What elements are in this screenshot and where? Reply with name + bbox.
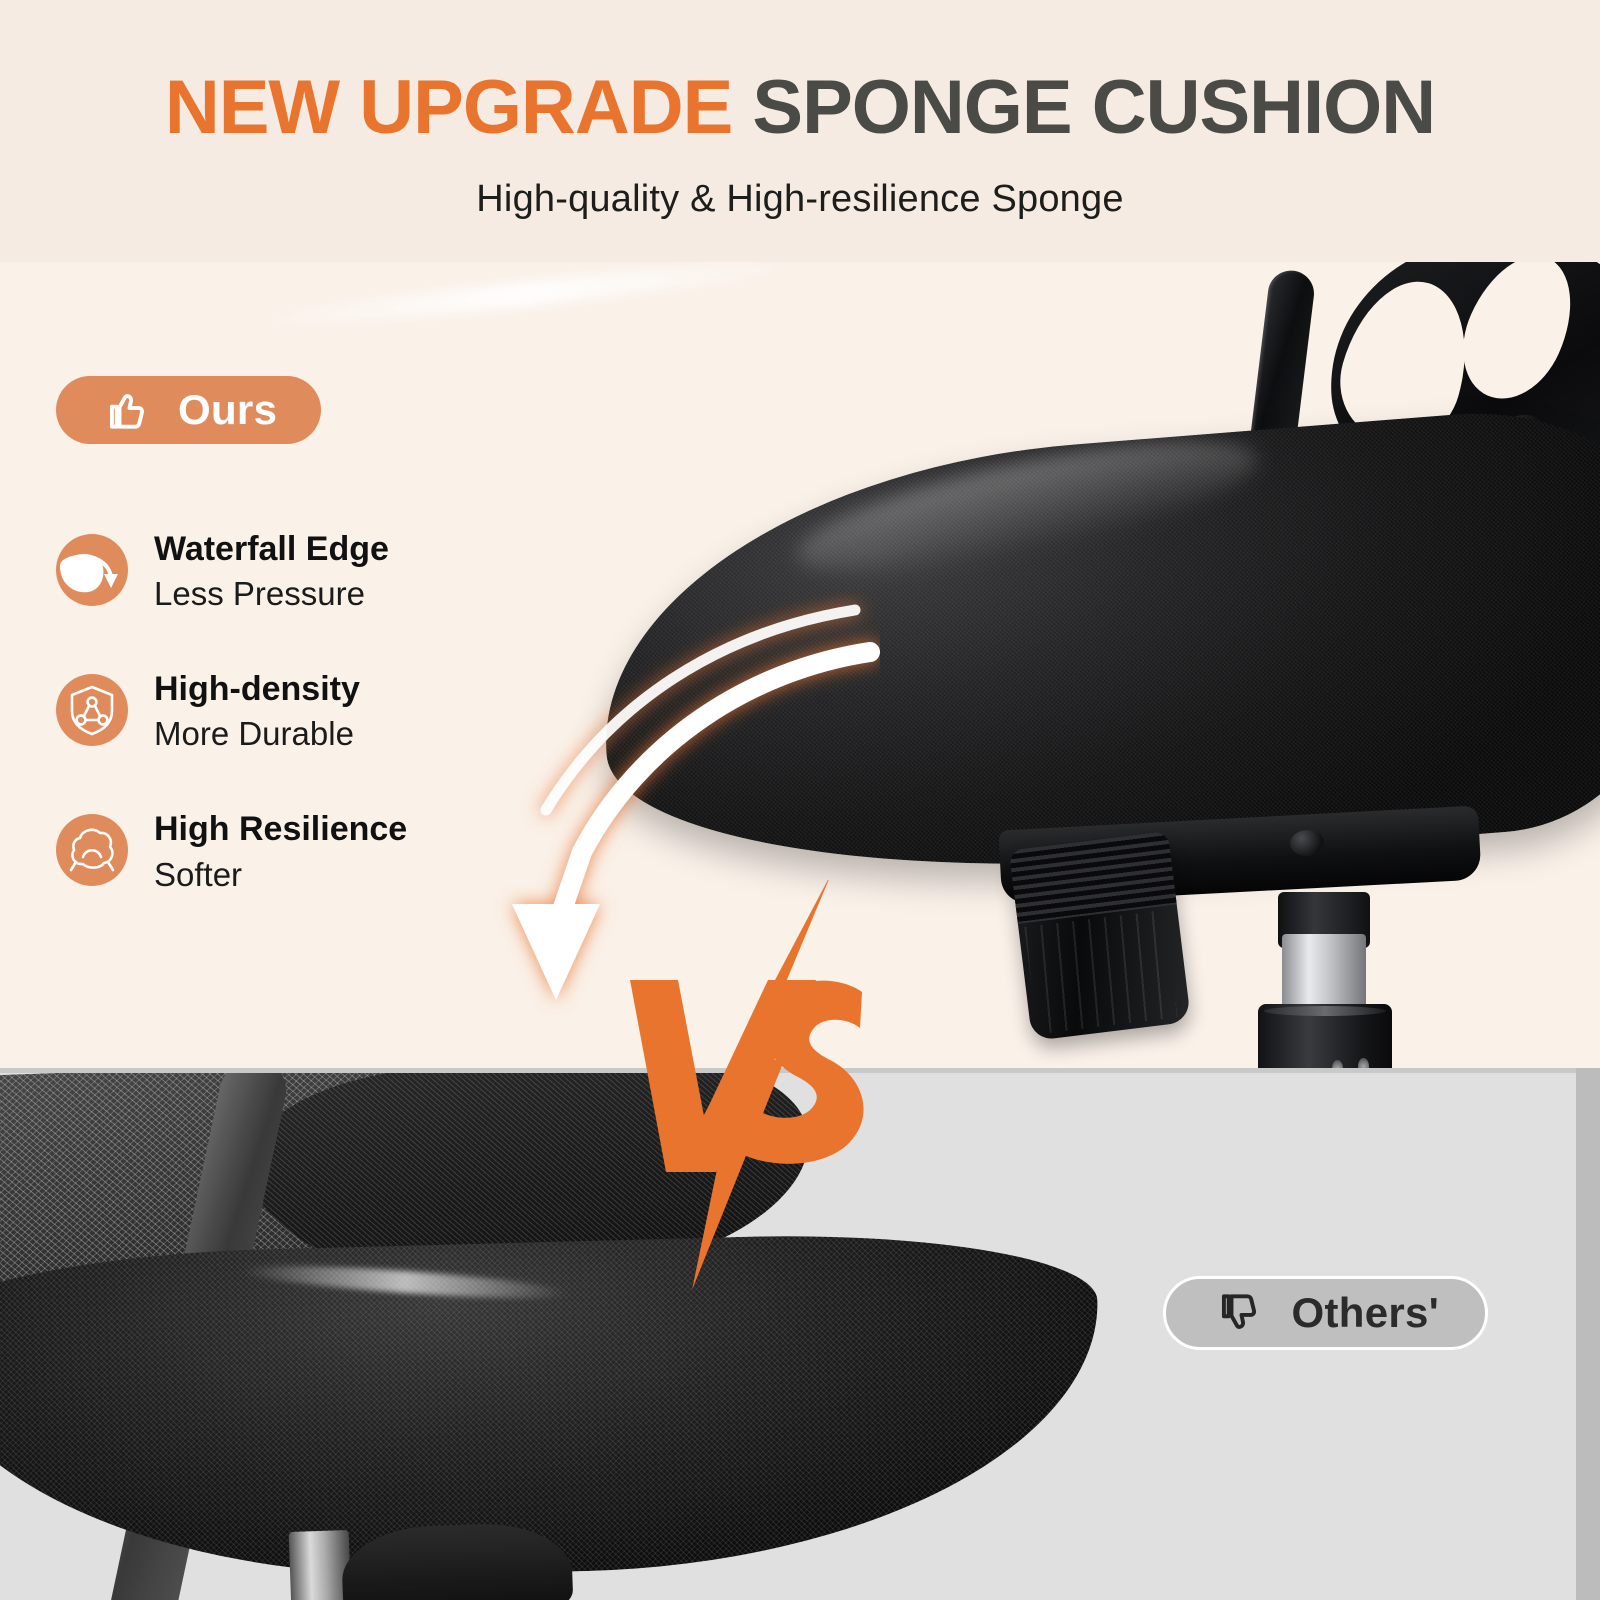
gas-cylinder-chrome xyxy=(1282,934,1366,1012)
tension-knob xyxy=(1009,831,1191,1041)
feature-list: Waterfall Edge Less Pressure High-densit… xyxy=(56,530,536,950)
feature-subtitle: Softer xyxy=(154,855,407,895)
thumbs-up-icon xyxy=(100,384,152,436)
thumbs-down-icon xyxy=(1212,1287,1264,1339)
vs-graphic xyxy=(600,880,920,1300)
feature-text: High Resilience Softer xyxy=(154,810,407,894)
others-seat-cushion xyxy=(0,1228,1100,1589)
header-band: NEW UPGRADE SPONGE CUSHION High-quality … xyxy=(0,0,1600,262)
feature-text: High-density More Durable xyxy=(154,670,360,754)
title-rest: SPONGE CUSHION xyxy=(752,65,1435,150)
bottom-right-edge xyxy=(1576,1068,1600,1600)
feature-item: High Resilience Softer xyxy=(56,810,536,894)
feature-subtitle: More Durable xyxy=(154,714,360,754)
others-chair-photo xyxy=(0,1073,1100,1600)
page-title: NEW UPGRADE SPONGE CUSHION xyxy=(0,70,1600,146)
gas-cylinder-body xyxy=(1258,1004,1392,1068)
page-subtitle: High-quality & High-resilience Sponge xyxy=(0,178,1600,221)
cylinder-detail-dot xyxy=(1332,1060,1343,1068)
waterfall-edge-glyph xyxy=(56,534,128,606)
shield-molecule-glyph xyxy=(56,674,128,746)
feature-subtitle: Less Pressure xyxy=(154,574,389,614)
feature-title: High Resilience xyxy=(154,810,407,849)
feature-title: High-density xyxy=(154,670,360,709)
shield-molecule-icon xyxy=(56,674,128,746)
vs-lightning-icon xyxy=(600,880,920,1300)
cylinder-detail-dot xyxy=(1358,1058,1369,1068)
infographic-root: NEW UPGRADE SPONGE CUSHION High-quality … xyxy=(0,0,1600,1600)
ours-badge-label: Ours xyxy=(178,386,277,434)
feature-text: Waterfall Edge Less Pressure xyxy=(154,530,389,614)
others-badge[interactable]: Others' xyxy=(1163,1276,1488,1350)
others-badge-label: Others' xyxy=(1292,1289,1439,1337)
waterfall-edge-icon xyxy=(56,534,128,606)
seat-top-specular xyxy=(245,262,804,335)
feature-item: Waterfall Edge Less Pressure xyxy=(56,530,536,614)
feature-title: Waterfall Edge xyxy=(154,530,389,569)
cushion-bounce-glyph xyxy=(56,814,128,886)
feature-item: High-density More Durable xyxy=(56,670,536,754)
cushion-bounce-icon xyxy=(56,814,128,886)
ours-badge[interactable]: Ours xyxy=(56,376,321,444)
title-highlight: NEW UPGRADE xyxy=(165,65,732,150)
